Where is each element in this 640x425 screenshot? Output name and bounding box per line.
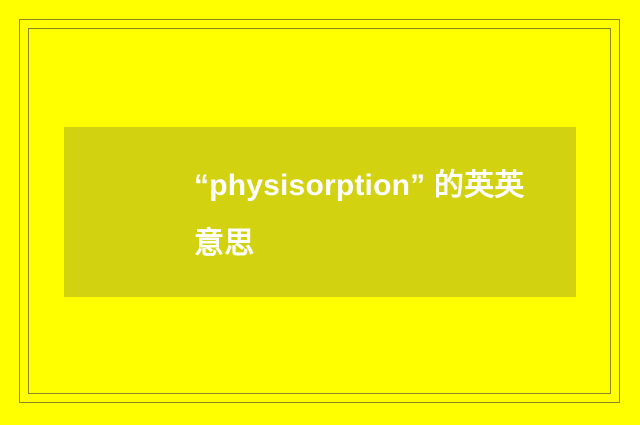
page-canvas: “physisorption” 的英英意思	[0, 0, 640, 425]
page-title: “physisorption” 的英英意思	[194, 157, 554, 273]
title-card: “physisorption” 的英英意思	[64, 127, 576, 297]
